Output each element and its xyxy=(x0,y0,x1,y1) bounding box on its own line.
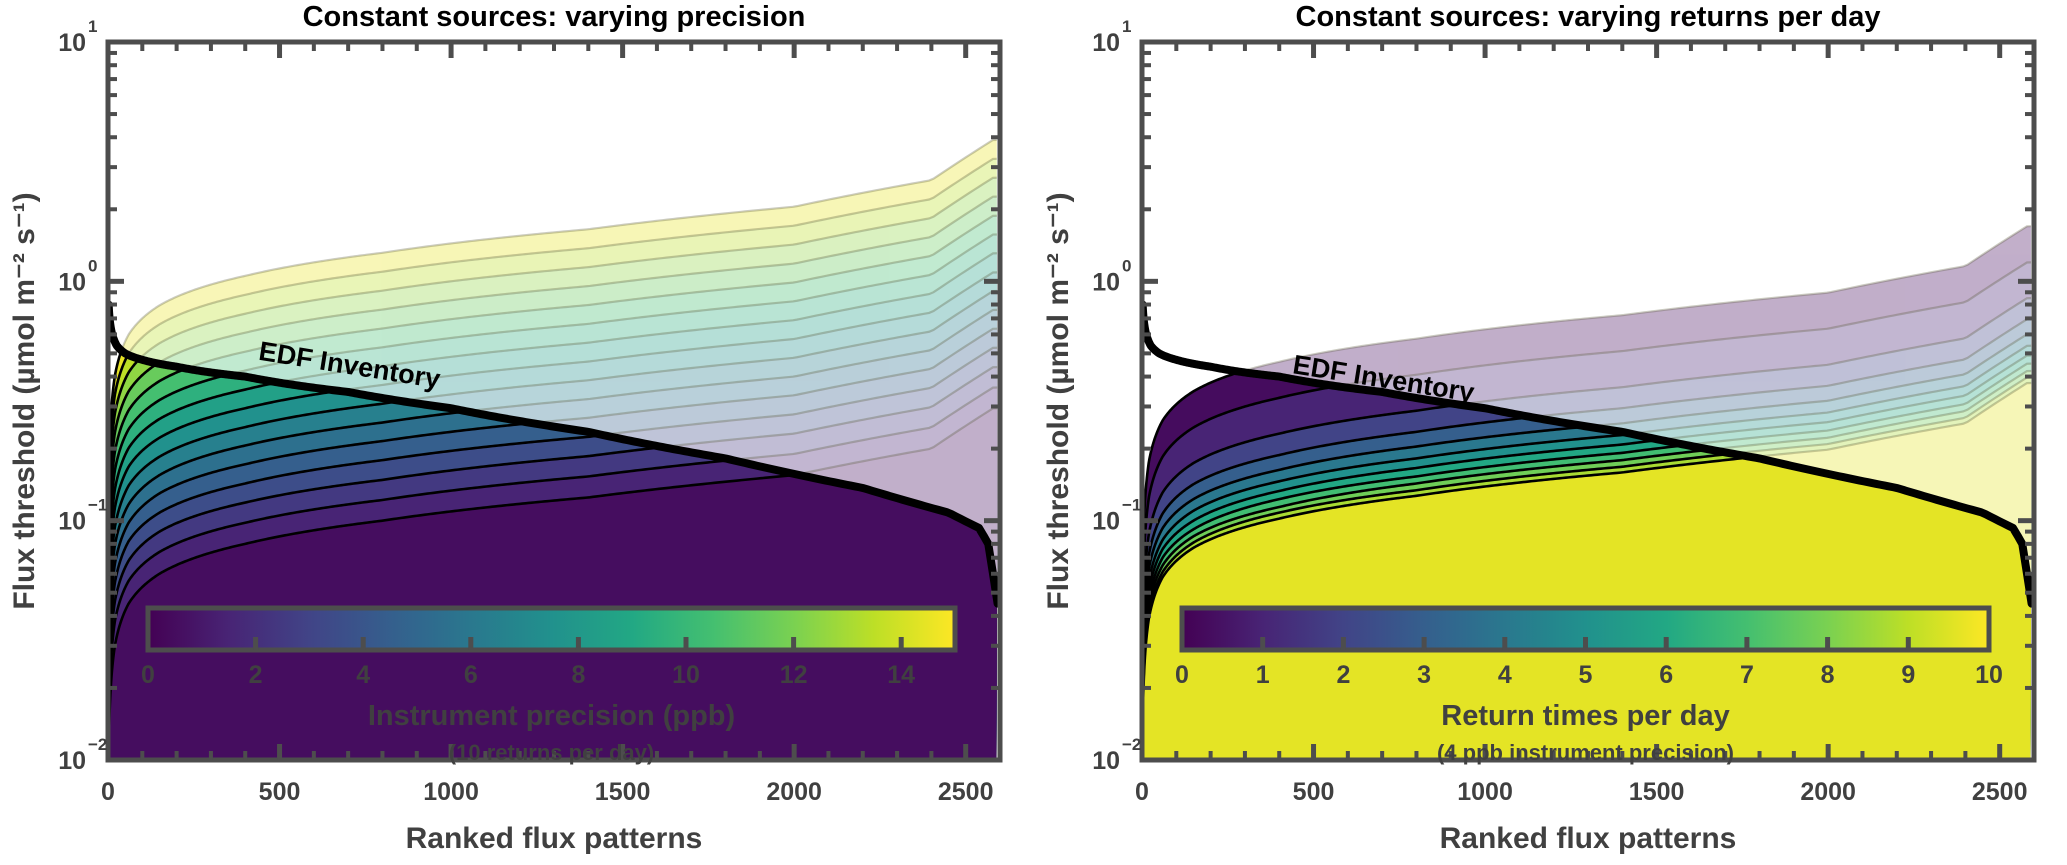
svg-text:10: 10 xyxy=(58,29,86,57)
svg-text:500: 500 xyxy=(259,778,301,806)
panel-title: Constant sources: varying precision xyxy=(303,1,806,33)
colorbar-tick: 14 xyxy=(887,661,915,689)
svg-text:2000: 2000 xyxy=(1800,778,1856,806)
svg-text:10: 10 xyxy=(58,747,86,775)
figure-root: 0500100015002000250010−210−1100101Consta… xyxy=(0,0,2067,865)
colorbar-tick: 2 xyxy=(1336,661,1350,689)
svg-text:10: 10 xyxy=(1092,268,1120,296)
colorbar-sublabel: (10 returns per day) xyxy=(449,740,654,765)
svg-text:1: 1 xyxy=(88,17,97,36)
panel-left: 0500100015002000250010−210−1100101Consta… xyxy=(0,0,1033,865)
panel-title: Constant sources: varying returns per da… xyxy=(1296,1,1881,33)
colorbar-tick: 0 xyxy=(1175,661,1189,689)
x-axis-label: Ranked flux patterns xyxy=(1440,822,1737,855)
svg-text:10: 10 xyxy=(1092,508,1120,536)
colorbar-label: Instrument precision (ppb) xyxy=(368,700,735,732)
panel-left-svg: 0500100015002000250010−210−1100101Consta… xyxy=(0,0,1033,865)
svg-text:1500: 1500 xyxy=(1629,778,1685,806)
panel-right-svg: 0500100015002000250010−210−1100101Consta… xyxy=(1034,0,2067,865)
svg-text:500: 500 xyxy=(1293,778,1335,806)
colorbar-tick: 2 xyxy=(249,661,263,689)
colorbar-tick: 10 xyxy=(672,661,700,689)
colorbar-tick: 7 xyxy=(1740,661,1754,689)
svg-text:2500: 2500 xyxy=(1972,778,2028,806)
svg-text:10: 10 xyxy=(1092,747,1120,775)
svg-text:10: 10 xyxy=(58,268,86,296)
svg-text:10: 10 xyxy=(1092,29,1120,57)
y-axis-label: Flux threshold (µmol m⁻² s⁻¹) xyxy=(8,192,41,609)
svg-text:−2: −2 xyxy=(88,735,107,754)
svg-text:2500: 2500 xyxy=(938,778,994,806)
svg-text:−1: −1 xyxy=(1122,496,1141,515)
colorbar-tick: 4 xyxy=(1498,661,1512,689)
colorbar-label: Return times per day xyxy=(1441,700,1729,732)
colorbar-tick: 8 xyxy=(571,661,585,689)
svg-text:0: 0 xyxy=(1135,778,1149,806)
colorbar-tick: 4 xyxy=(356,661,370,689)
colorbar-tick: 5 xyxy=(1579,661,1593,689)
colorbar-tick: 0 xyxy=(141,661,155,689)
svg-text:1000: 1000 xyxy=(423,778,479,806)
svg-text:0: 0 xyxy=(1122,256,1131,275)
svg-text:1500: 1500 xyxy=(595,778,651,806)
y-axis-label: Flux threshold (µmol m⁻² s⁻¹) xyxy=(1042,192,1075,609)
svg-text:0: 0 xyxy=(101,778,115,806)
colorbar-tick: 10 xyxy=(1975,661,2003,689)
colorbar-tick: 6 xyxy=(1659,661,1673,689)
svg-text:1: 1 xyxy=(1122,17,1131,36)
colorbar-tick: 6 xyxy=(464,661,478,689)
x-axis-label: Ranked flux patterns xyxy=(406,822,703,855)
colorbar-sublabel: (4 ppb instrument precision) xyxy=(1437,740,1734,765)
colorbar-tick: 12 xyxy=(780,661,808,689)
svg-text:1000: 1000 xyxy=(1457,778,1513,806)
svg-text:0: 0 xyxy=(88,256,97,275)
svg-text:10: 10 xyxy=(58,508,86,536)
colorbar-tick: 8 xyxy=(1821,661,1835,689)
svg-text:−2: −2 xyxy=(1122,735,1141,754)
svg-text:2000: 2000 xyxy=(766,778,822,806)
colorbar-tick: 3 xyxy=(1417,661,1431,689)
colorbar-tick: 1 xyxy=(1256,661,1270,689)
colorbar-tick: 9 xyxy=(1901,661,1915,689)
panel-right: 0500100015002000250010−210−1100101Consta… xyxy=(1034,0,2067,865)
svg-text:−1: −1 xyxy=(88,496,107,515)
